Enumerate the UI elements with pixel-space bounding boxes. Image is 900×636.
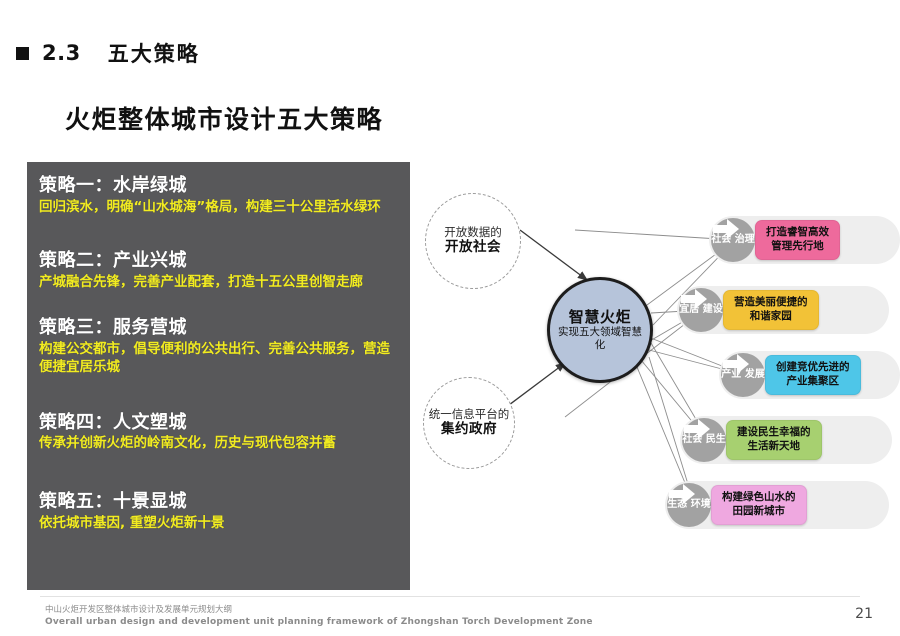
- strategy-description: 回归滨水，明确“山水城海”格局，构建三十公里活水绿环: [39, 198, 400, 216]
- outcome-card-ecological-environment[interactable]: 构建绿色山水的 田园新城市: [711, 485, 807, 524]
- core-title: 智慧火炬: [569, 308, 631, 326]
- section-heading: 2.3 五大策略: [16, 38, 200, 68]
- strategy-description: 依托城市基因, 重塑火炬新十景: [39, 514, 400, 532]
- outcome-card-livable-construction[interactable]: 营造美丽便捷的 和谐家园: [723, 290, 819, 329]
- source-subtitle: 开放数据的: [444, 225, 502, 239]
- strategy-item: 策略二：产业兴城 产城融合先锋，完善产业配套，打造十五公里创智走廊: [39, 249, 400, 291]
- footer-text-cn: 中山火炬开发区整体城市设计及发展单元规划大纲: [45, 604, 593, 616]
- core-circle-smart-torch: 智慧火炬 实现五大领域智慧化: [547, 277, 653, 383]
- right-arrow-icon: [711, 216, 741, 242]
- strategy-description: 传承并创新火炬的岭南文化，历史与现代包容并蓄: [39, 434, 400, 452]
- source-title: 集约政府: [441, 421, 497, 439]
- smart-torch-diagram: 开放数据的 开放社会 统一信息平台的 集约政府 智慧火炬 实现五大领域智慧化 社…: [415, 185, 900, 565]
- strategy-description: 产城融合先锋，完善产业配套，打造十五公里创智走廊: [39, 273, 400, 291]
- outcome-card-social-livelihood[interactable]: 建设民生幸福的 生活新天地: [726, 420, 822, 459]
- strategy-title: 策略四：人文塑城: [39, 411, 400, 435]
- strategy-title: 策略三：服务营城: [39, 316, 400, 340]
- outcome-card-social-governance[interactable]: 打造睿智高效 管理先行地: [755, 220, 840, 259]
- page-number: 21: [855, 606, 873, 622]
- domain-row-ecological-environment[interactable]: 生态 环境 构建绿色山水的 田园新城市: [665, 481, 889, 529]
- source-circle-intensive-government: 统一信息平台的 集约政府: [423, 377, 515, 469]
- source-circle-open-society: 开放数据的 开放社会: [425, 193, 521, 289]
- footer-text-en: Overall urban design and development uni…: [45, 616, 593, 629]
- source-title: 开放社会: [445, 239, 501, 257]
- strategy-title: 策略五：十景显城: [39, 490, 400, 514]
- strategy-item: 策略五：十景显城 依托城市基因, 重塑火炬新十景: [39, 490, 400, 532]
- footer: 中山火炬开发区整体城市设计及发展单元规划大纲 Overall urban des…: [45, 604, 593, 629]
- strategy-item: 策略四：人文塑城 传承并创新火炬的岭南文化，历史与现代包容并蓄: [39, 411, 400, 453]
- strategy-description: 构建公交都市，倡导便利的公共出行、完善公共服务，营造便捷宜居乐城: [39, 340, 400, 377]
- source-subtitle: 统一信息平台的: [429, 407, 510, 421]
- right-arrow-icon: [682, 416, 712, 442]
- strategy-panel: 策略一：水岸绿城 回归滨水，明确“山水城海”格局，构建三十公里活水绿环 策略二：…: [27, 162, 410, 590]
- strategy-title: 策略一：水岸绿城: [39, 174, 400, 198]
- domain-row-livable-construction[interactable]: 宜居 建设 营造美丽便捷的 和谐家园: [677, 286, 889, 334]
- right-arrow-icon: [679, 286, 709, 312]
- right-arrow-icon: [667, 481, 697, 507]
- page-title: 火炬整体城市设计五大策略: [65, 100, 383, 136]
- strategy-item: 策略一：水岸绿城 回归滨水，明确“山水城海”格局，构建三十公里活水绿环: [39, 174, 400, 216]
- strategy-item: 策略三：服务营城 构建公交都市，倡导便利的公共出行、完善公共服务，营造便捷宜居乐…: [39, 316, 400, 376]
- square-bullet-icon: [16, 47, 29, 60]
- footer-divider: [40, 596, 860, 597]
- core-subtitle: 实现五大领域智慧化: [550, 326, 650, 352]
- right-arrow-icon: [721, 351, 751, 377]
- outcome-card-industry-development[interactable]: 创建竞优先进的 产业集聚区: [765, 355, 861, 394]
- section-number: 2.3: [42, 41, 81, 65]
- domain-row-social-livelihood[interactable]: 社会 民生 建设民生幸福的 生活新天地: [680, 416, 892, 464]
- slide-canvas: 2.3 五大策略 火炬整体城市设计五大策略 策略一：水岸绿城 回归滨水，明确“山…: [0, 0, 900, 636]
- domain-row-social-governance[interactable]: 社会 治理 打造睿智高效 管理先行地: [709, 216, 900, 264]
- strategy-title: 策略二：产业兴城: [39, 249, 400, 273]
- section-title: 五大策略: [108, 38, 200, 68]
- domain-row-industry-development[interactable]: 产业 发展 创建竞优先进的 产业集聚区: [719, 351, 900, 399]
